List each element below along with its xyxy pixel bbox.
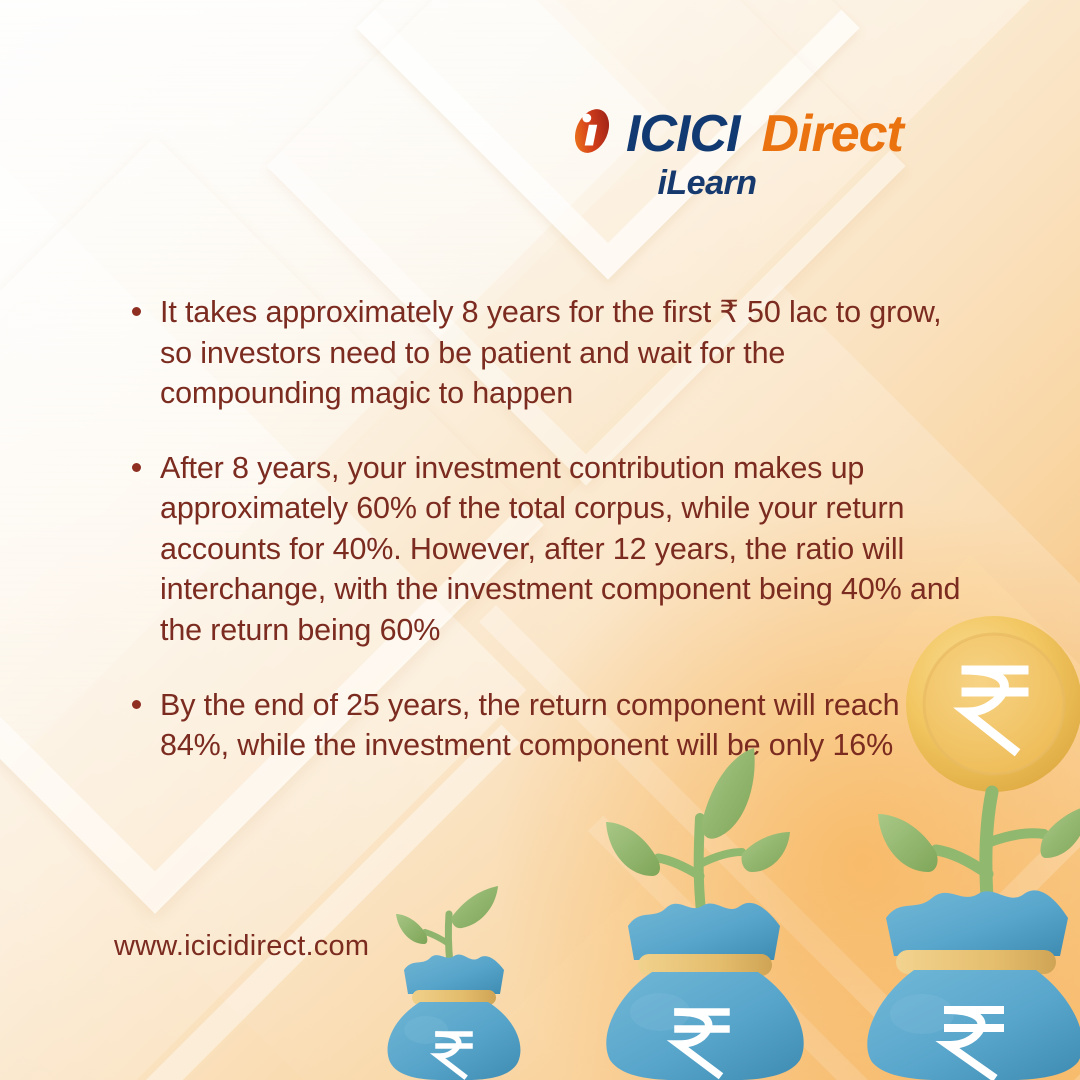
icici-i-mark-icon <box>566 105 618 157</box>
bullet-dot-icon <box>132 700 141 709</box>
logo-text-direct: Direct <box>761 108 902 160</box>
brand-logo: ICICI Direct iLearn <box>566 108 986 203</box>
content-body: It takes approximately 8 years for the f… <box>128 292 966 800</box>
list-item: It takes approximately 8 years for the f… <box>128 292 966 414</box>
poster-canvas: ICICI Direct iLearn It takes approximate… <box>0 0 1080 1080</box>
small-money-bag <box>378 852 530 1080</box>
bullet-text: After 8 years, your investment contribut… <box>160 451 960 647</box>
logo-wordmark-row: ICICI Direct <box>566 108 986 160</box>
bullet-dot-icon <box>132 463 141 472</box>
logo-sub-brand-ilearn: iLearn <box>566 164 986 203</box>
website-url[interactable]: www.icicidirect.com <box>114 930 369 963</box>
logo-text-icici: ICICI <box>626 108 739 160</box>
bullet-text: It takes approximately 8 years for the f… <box>160 295 941 410</box>
list-item: By the end of 25 years, the return compo… <box>128 685 966 766</box>
bullet-list: It takes approximately 8 years for the f… <box>128 292 966 766</box>
list-item: After 8 years, your investment contribut… <box>128 448 966 651</box>
bullet-dot-icon <box>132 307 141 316</box>
bullet-text: By the end of 25 years, the return compo… <box>160 688 899 763</box>
